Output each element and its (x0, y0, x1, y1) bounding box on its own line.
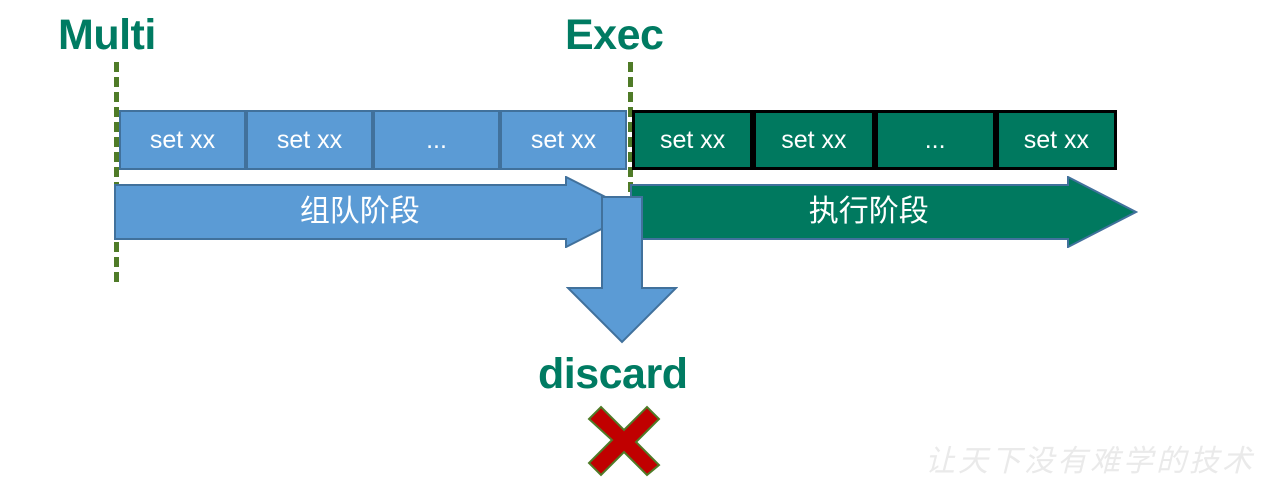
command-box-label: ... (925, 128, 946, 153)
cross-mark-shape-icon (587, 405, 661, 477)
command-box-label: set xx (660, 128, 725, 153)
diagram-canvas: Multi Exec set xx set xx ... set xx set … (0, 0, 1273, 486)
command-box[interactable]: set xx (246, 110, 373, 170)
multi-phase-label: Multi (58, 14, 156, 57)
multi-phase-arrow: 组队阶段 (114, 176, 637, 248)
cross-mark-icon (587, 405, 661, 477)
command-box-label: set xx (1024, 128, 1089, 153)
watermark-text: 让天下没有难学的技术 (925, 436, 1255, 480)
exec-command-box-row: set xx set xx ... set xx (632, 110, 1117, 170)
down-arrow-shape-icon (566, 196, 678, 344)
discard-label: discard (538, 353, 687, 396)
multi-command-box-row: set xx set xx ... set xx (119, 110, 627, 170)
command-box-ellipsis[interactable]: ... (875, 110, 996, 170)
command-box[interactable]: set xx (753, 110, 874, 170)
command-box[interactable]: set xx (996, 110, 1117, 170)
exec-phase-label: Exec (565, 14, 663, 57)
command-box-label: set xx (781, 128, 846, 153)
exec-phase-arrow-label: 执行阶段 (809, 197, 929, 227)
command-box[interactable]: set xx (500, 110, 627, 170)
multi-boundary-dashed-line (114, 62, 119, 282)
command-box[interactable]: set xx (632, 110, 753, 170)
command-box-label: set xx (277, 128, 342, 153)
exec-phase-arrow: 执行阶段 (630, 176, 1138, 248)
command-box[interactable]: set xx (119, 110, 246, 170)
command-box-label: set xx (150, 128, 215, 153)
multi-phase-arrow-label: 组队阶段 (300, 197, 420, 227)
discard-down-arrow (566, 196, 678, 344)
command-box-label: ... (426, 128, 447, 153)
command-box-label: set xx (531, 128, 596, 153)
command-box-ellipsis[interactable]: ... (373, 110, 500, 170)
